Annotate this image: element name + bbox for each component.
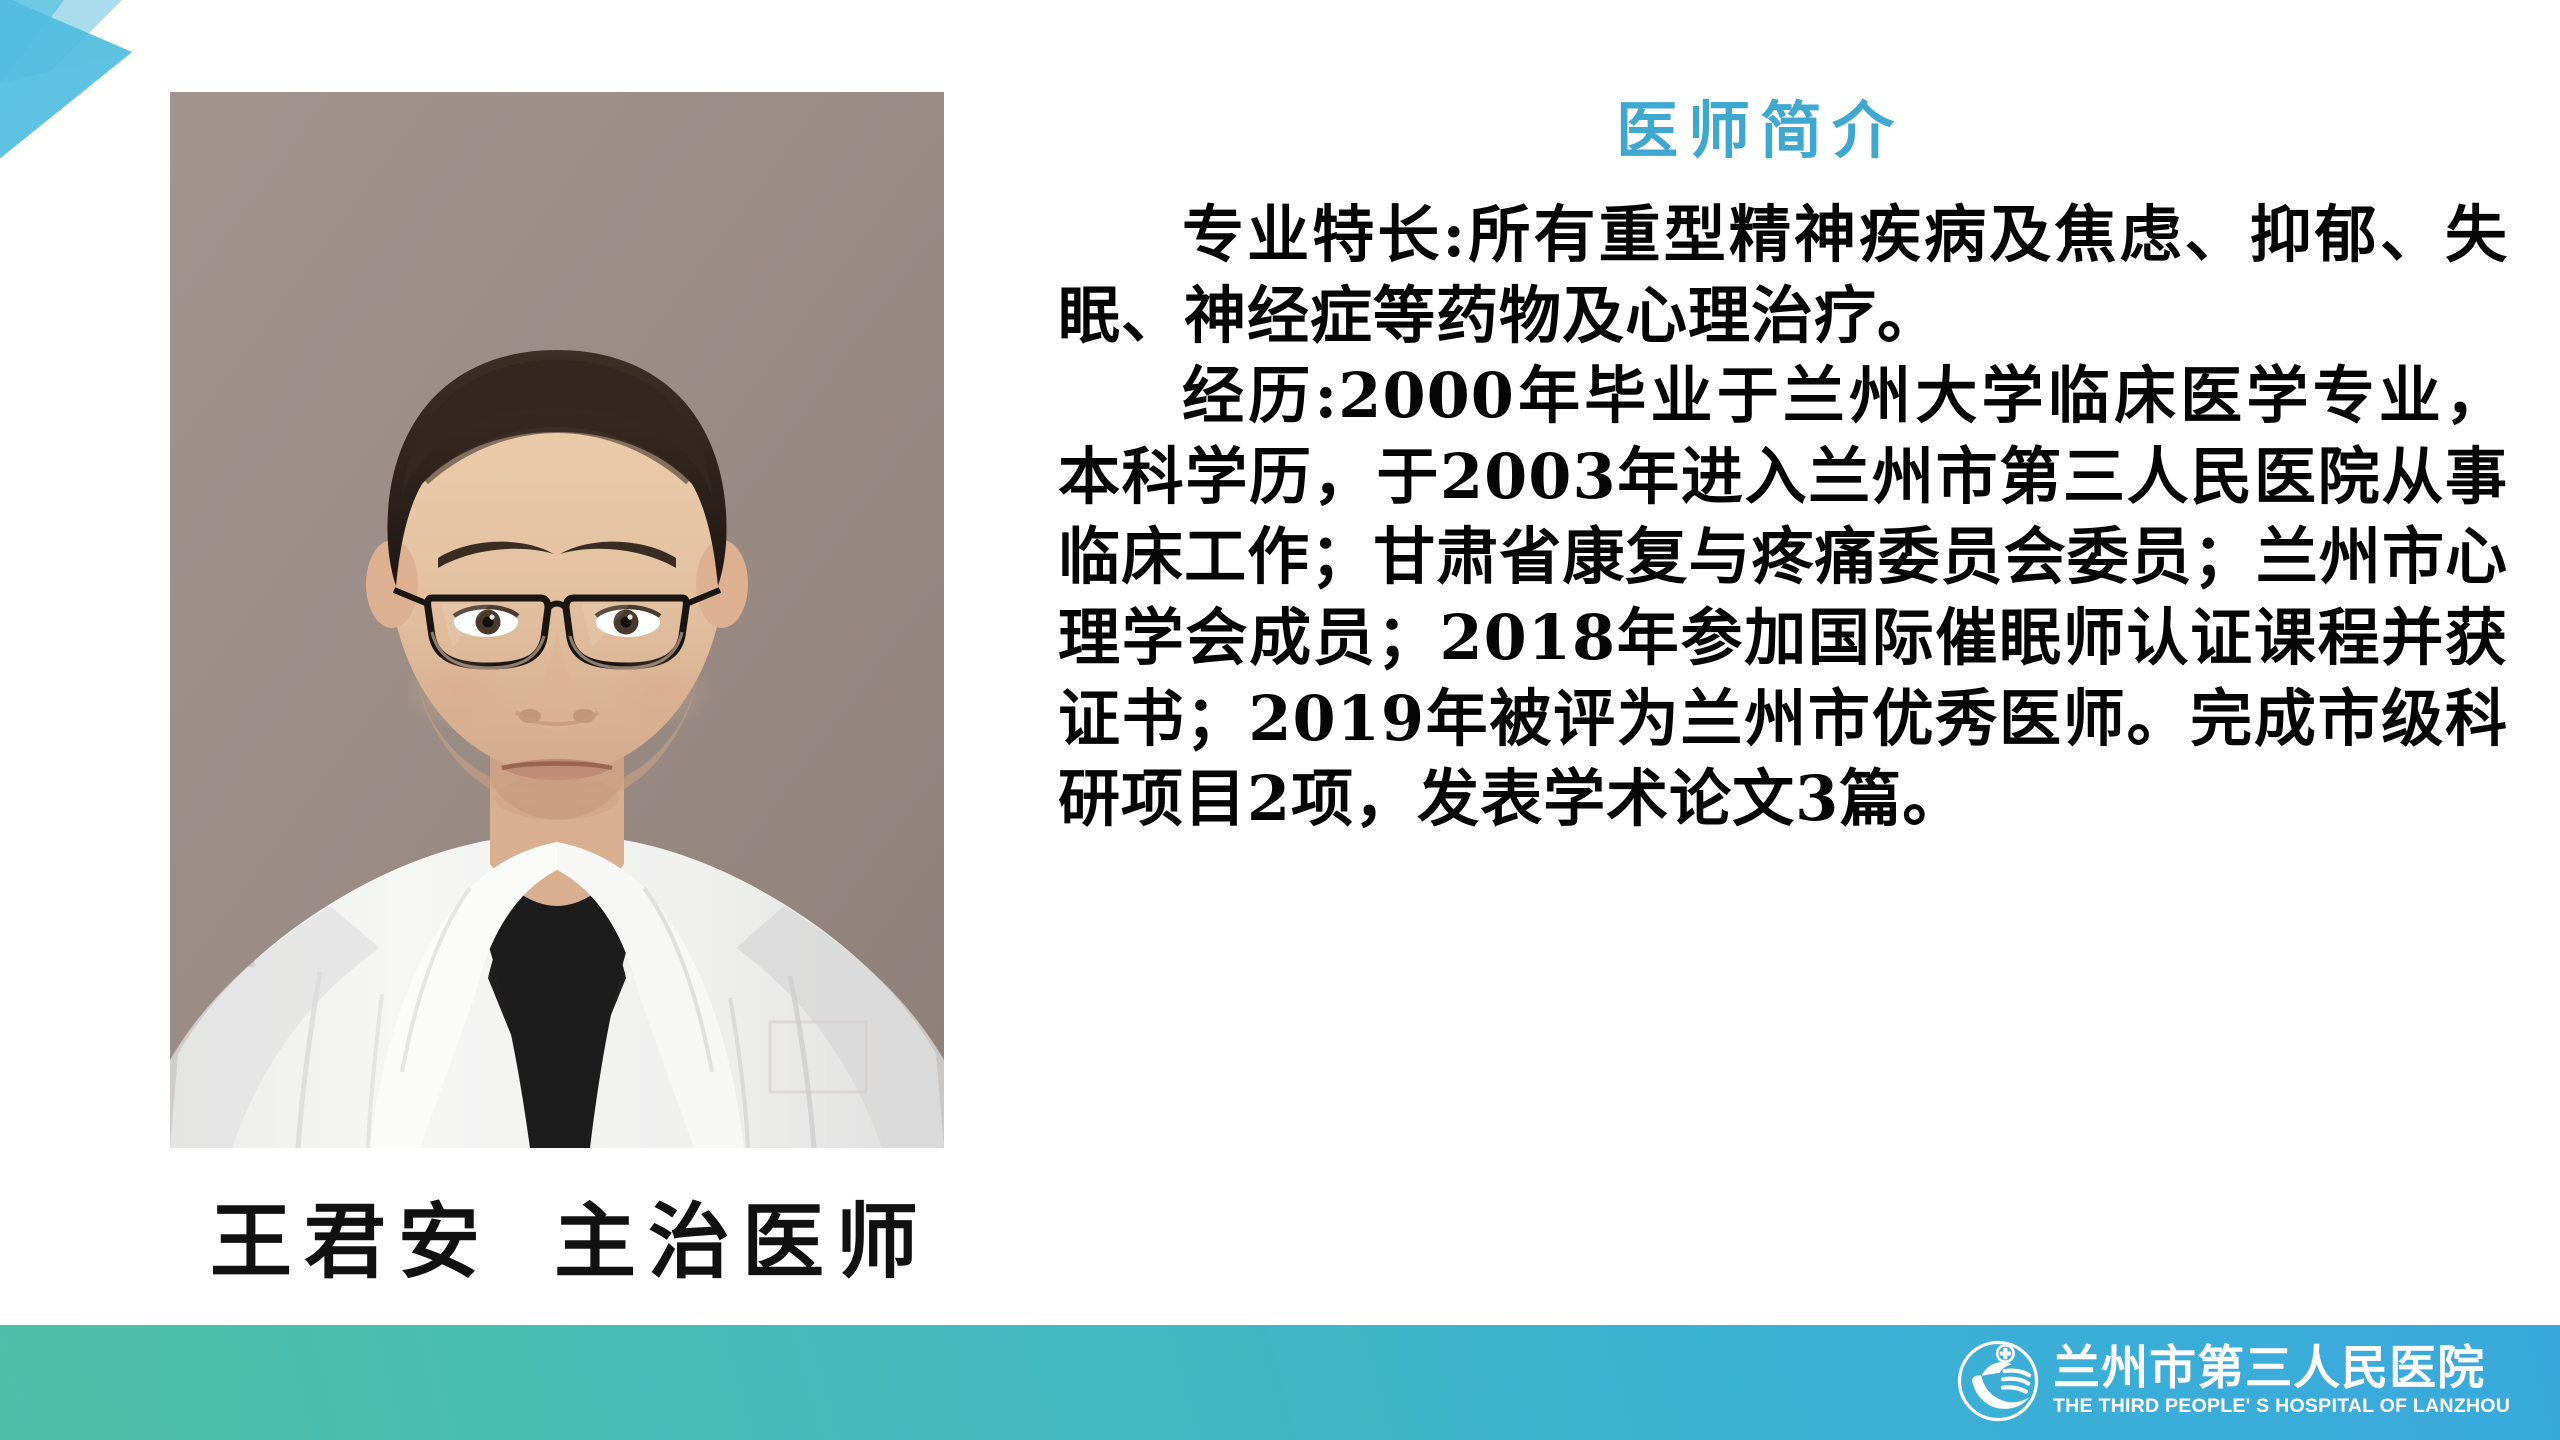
triangle-mid-icon (0, 0, 72, 96)
slide-root: 王君安 主治医师 医师简介 专业特长:所有重型精神疾病及焦虑、抑郁、失眠、神经症… (0, 0, 2560, 1440)
doctor-title: 主治医师 (554, 1201, 930, 1283)
hospital-logo-words: 兰州市第三人民医院 THE THIRD PEOPLE' S HOSPITAL O… (2053, 1345, 2508, 1417)
hospital-dove-cross-logo-icon (1957, 1340, 2039, 1422)
hospital-name-cn: 兰州市第三人民医院 (2053, 1345, 2508, 1392)
hospital-name-en: THE THIRD PEOPLE' S HOSPITAL OF LANZHOU (2053, 1397, 2510, 1417)
bio-heading: 医师简介 (1060, 100, 2460, 162)
doctor-photo (170, 92, 944, 1148)
bio-paragraph-specialty: 专业特长:所有重型精神疾病及焦虑、抑郁、失眠、神经症等药物及心理治疗。 (1058, 195, 2508, 356)
bio-paragraph-experience: 经历:2000年毕业于兰州大学临床医学专业，本科学历，于2003年进入兰州市第三… (1058, 356, 2508, 840)
hospital-logo: 兰州市第三人民医院 THE THIRD PEOPLE' S HOSPITAL O… (1957, 1340, 2508, 1422)
triangle-accent-icon (0, 52, 132, 168)
triangle-light-icon (0, 0, 132, 132)
doctor-name-line: 王君安 主治医师 (120, 1182, 1020, 1302)
triangle-deep-icon (0, 0, 132, 168)
footer-bar: 兰州市第三人民医院 THE THIRD PEOPLE' S HOSPITAL O… (0, 1325, 2560, 1440)
doctor-name: 王君安 (210, 1201, 492, 1283)
bio-body: 专业特长:所有重型精神疾病及焦虑、抑郁、失眠、神经症等药物及心理治疗。 经历:2… (1058, 195, 2508, 840)
